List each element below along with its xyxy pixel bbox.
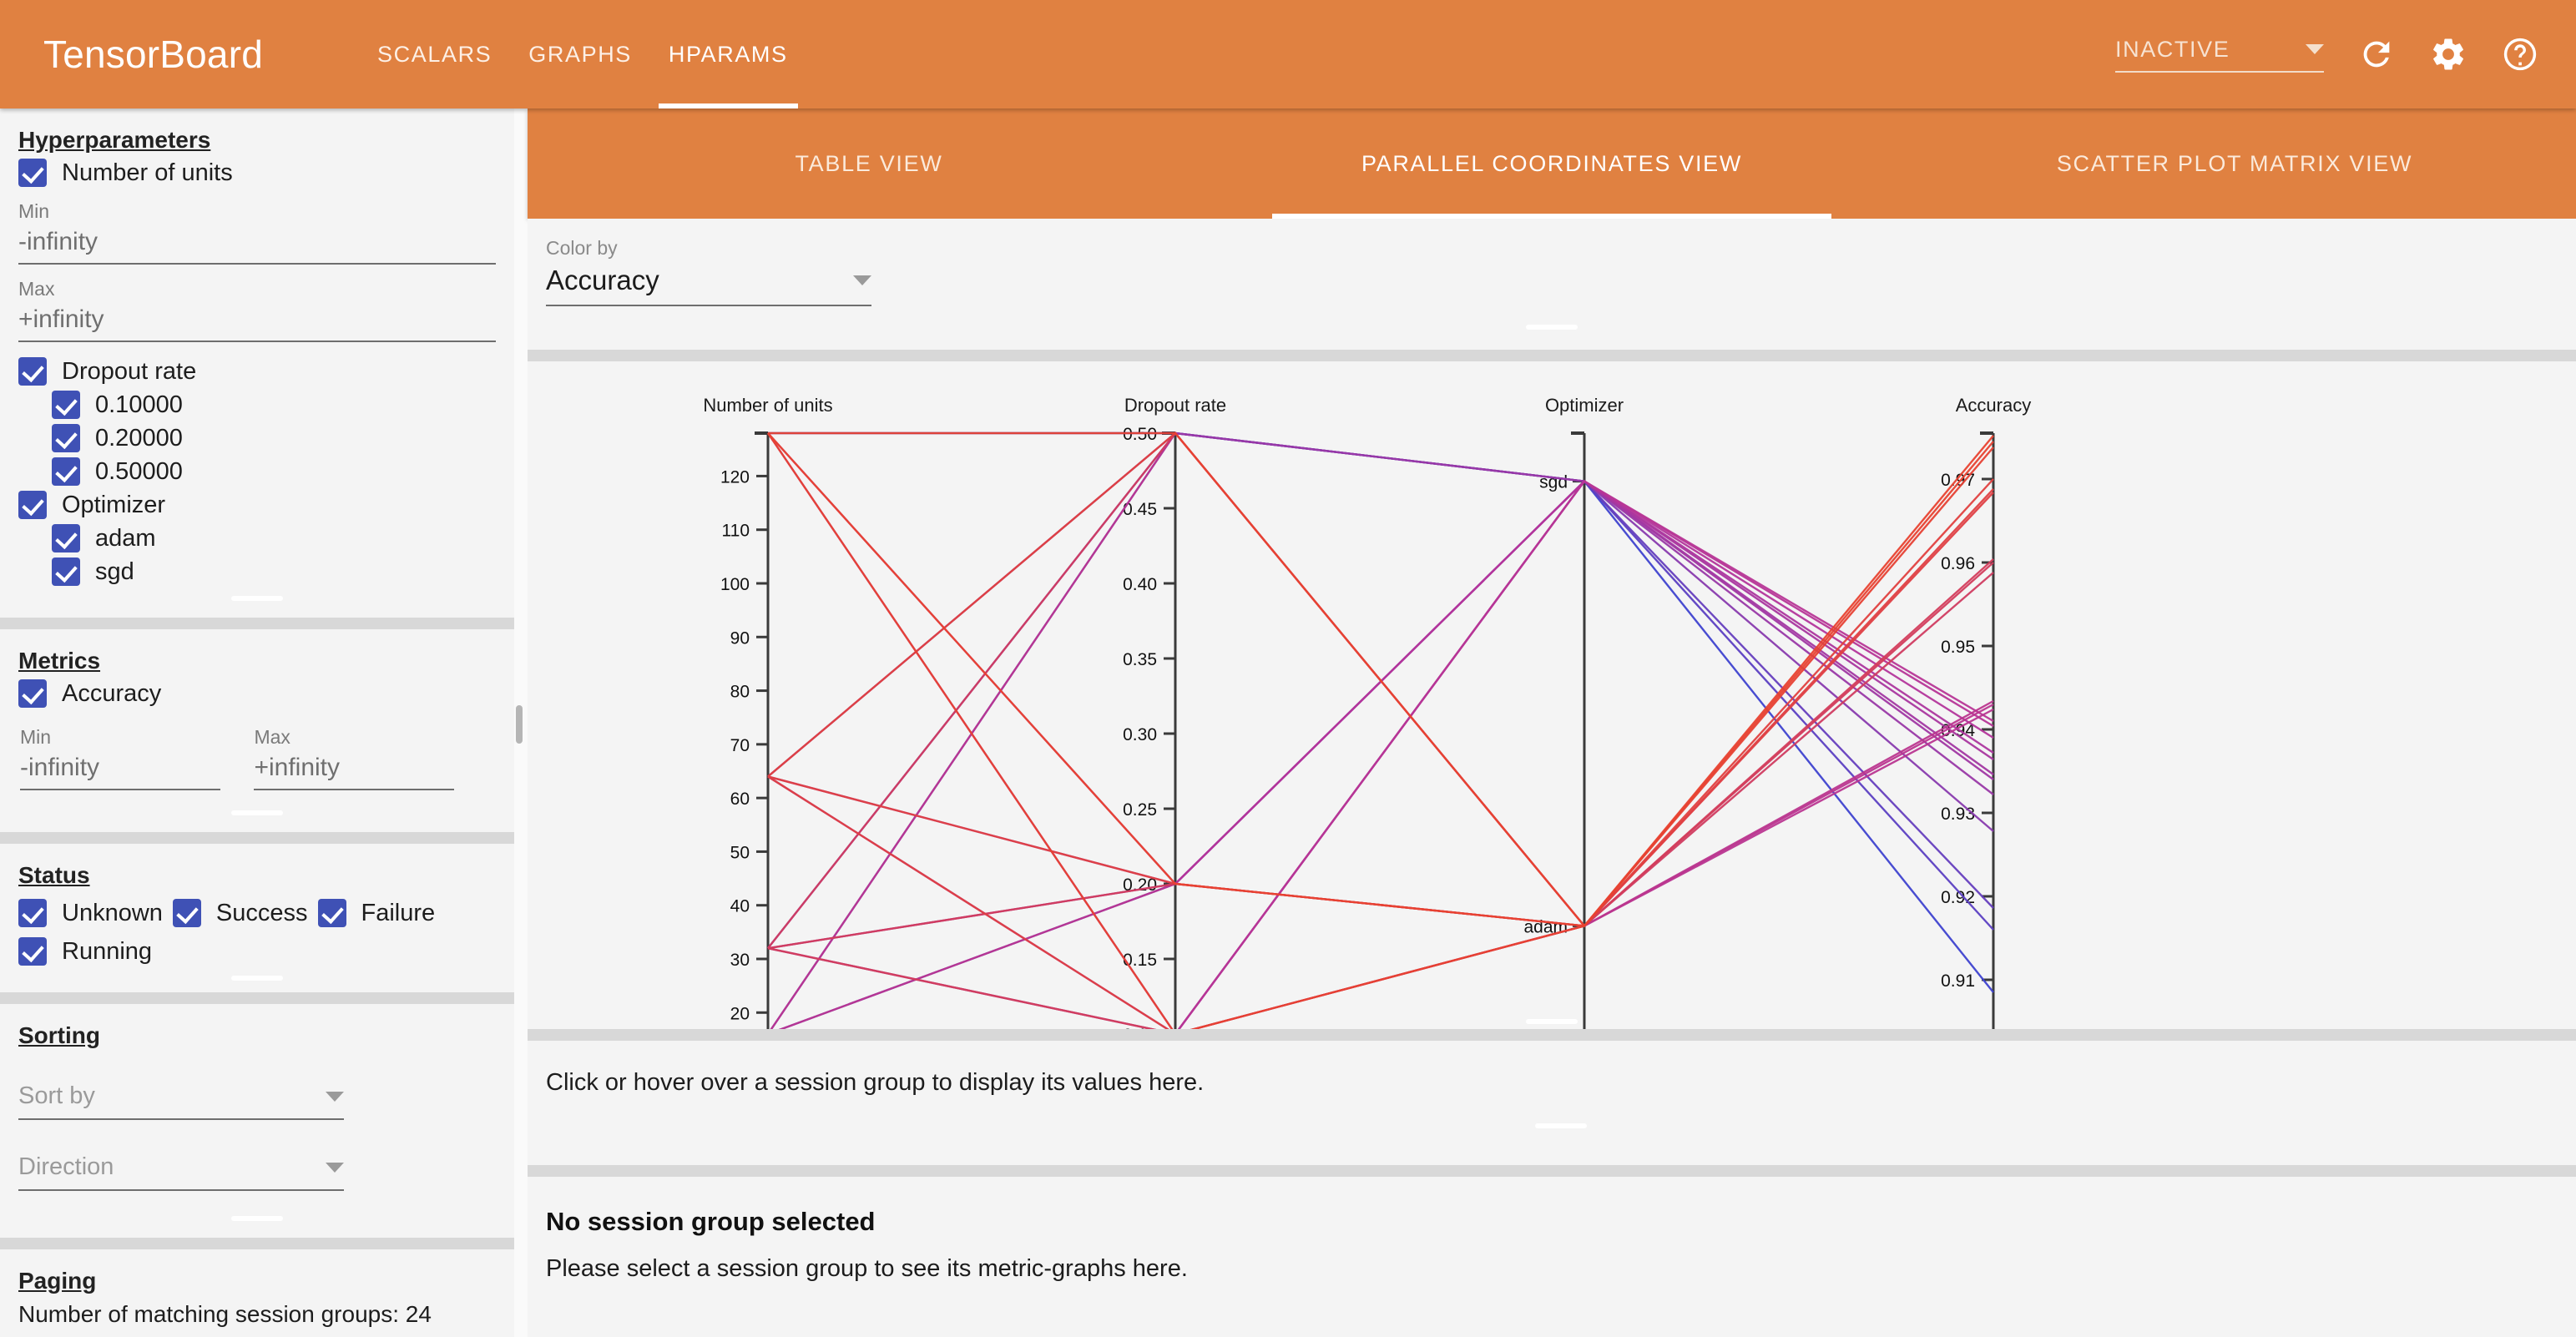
paging-card: Paging Number of matching session groups… xyxy=(0,1249,514,1337)
svg-text:0.95: 0.95 xyxy=(1941,638,1975,657)
svg-text:Number of units: Number of units xyxy=(703,395,832,416)
hparam-number-of-units-row[interactable]: Number of units xyxy=(18,159,514,187)
hyperparameters-resize-grip[interactable] xyxy=(0,591,514,604)
svg-text:50: 50 xyxy=(730,843,750,862)
hparam-label-number-of-units: Number of units xyxy=(62,159,233,187)
help-icon[interactable] xyxy=(2501,35,2539,73)
nav-tab-hparams[interactable]: HPARAMS xyxy=(650,0,806,108)
svg-text:110: 110 xyxy=(722,522,750,541)
svg-text:0.25: 0.25 xyxy=(1123,800,1157,820)
direction-select[interactable]: Direction xyxy=(18,1153,344,1191)
metric-graphs-card: No session group selected Please select … xyxy=(528,1177,2576,1337)
svg-text:0.15: 0.15 xyxy=(1123,951,1157,970)
dropout-value-label-0: 0.10000 xyxy=(95,391,183,419)
svg-text:0.50: 0.50 xyxy=(1123,425,1157,444)
accuracy-max-label: Max xyxy=(254,726,454,749)
status-title: Status xyxy=(18,862,514,889)
session-values-card: Click or hover over a session group to d… xyxy=(528,1041,2576,1165)
dropout-value-label-1: 0.20000 xyxy=(95,425,183,452)
checkbox-dropout-0-2[interactable] xyxy=(52,424,80,452)
svg-text:0.96: 0.96 xyxy=(1941,554,1975,573)
nav-tab-scalars[interactable]: SCALARS xyxy=(359,0,510,108)
tab-table-view[interactable]: TABLE VIEW xyxy=(528,108,1210,219)
units-max-value[interactable]: +infinity xyxy=(18,305,496,342)
units-min-label: Min xyxy=(18,200,496,223)
status-checkbox-row: Unknown Success Failure Running xyxy=(18,894,486,971)
gear-icon[interactable] xyxy=(2429,35,2467,73)
filters-sidebar: Hyperparameters Number of units Min -inf… xyxy=(0,108,514,1337)
svg-text:90: 90 xyxy=(730,628,750,648)
status-row-running[interactable]: Running xyxy=(18,937,152,966)
status-card: Status Unknown Success Failure Running xyxy=(0,844,514,992)
tensorboard-app: TensorBoard SCALARS GRAPHS HPARAMS INACT… xyxy=(0,0,2576,1337)
dropout-value-row-1[interactable]: 0.20000 xyxy=(52,424,514,452)
svg-text:0.91: 0.91 xyxy=(1941,971,1975,991)
checkbox-optimizer-sgd[interactable] xyxy=(52,558,80,586)
svg-text:60: 60 xyxy=(730,790,750,809)
status-row-failure[interactable]: Failure xyxy=(318,899,436,927)
svg-text:70: 70 xyxy=(730,736,750,755)
svg-text:Accuracy: Accuracy xyxy=(1956,395,2031,416)
metrics-resize-grip[interactable] xyxy=(0,805,514,819)
top-app-bar: TensorBoard SCALARS GRAPHS HPARAMS INACT… xyxy=(0,0,2576,108)
svg-text:40: 40 xyxy=(730,897,750,916)
svg-text:0.93: 0.93 xyxy=(1941,805,1975,824)
metric-accuracy-row[interactable]: Accuracy xyxy=(18,679,514,708)
accuracy-max-value[interactable]: +infinity xyxy=(254,754,454,790)
view-tabs: TABLE VIEW PARALLEL COORDINATES VIEW SCA… xyxy=(528,108,2576,219)
hparam-dropout-rate-row[interactable]: Dropout rate xyxy=(18,357,514,386)
svg-text:0.35: 0.35 xyxy=(1123,650,1157,669)
status-row-success[interactable]: Success xyxy=(173,899,308,927)
matching-session-groups-text: Number of matching session groups: 24 xyxy=(18,1301,514,1328)
session-values-hint: Click or hover over a session group to d… xyxy=(546,1069,2576,1097)
hyperparameters-title: Hyperparameters xyxy=(18,127,514,154)
nav-tab-graphs[interactable]: GRAPHS xyxy=(510,0,650,108)
tab-scatter-plot-matrix-view[interactable]: SCATTER PLOT MATRIX VIEW xyxy=(1893,108,2576,219)
checkbox-optimizer[interactable] xyxy=(18,491,47,519)
svg-text:100: 100 xyxy=(720,575,750,594)
svg-text:30: 30 xyxy=(730,951,750,970)
dropout-value-label-2: 0.50000 xyxy=(95,458,183,486)
color-by-value: Accuracy xyxy=(546,265,659,296)
chevron-down-icon xyxy=(326,1092,344,1102)
metrics-card: Metrics Accuracy Min -infinity Max +infi… xyxy=(0,629,514,832)
parallel-coordinates-chart-card[interactable]: Number of units2030405060708090100110120… xyxy=(528,361,2576,1029)
chevron-down-icon xyxy=(853,275,871,285)
parallel-coordinates-plot[interactable]: Number of units2030405060708090100110120… xyxy=(528,361,2576,1029)
tab-parallel-coordinates-view[interactable]: PARALLEL COORDINATES VIEW xyxy=(1210,108,1893,219)
dropout-value-row-0[interactable]: 0.10000 xyxy=(52,391,514,419)
color-by-card: Color by Accuracy xyxy=(528,219,2576,350)
svg-text:80: 80 xyxy=(730,683,750,702)
svg-text:120: 120 xyxy=(720,467,750,487)
checkbox-dropout-0-1[interactable] xyxy=(52,391,80,419)
optimizer-value-label-0: adam xyxy=(95,525,156,552)
sorting-card: Sorting Sort by Direction xyxy=(0,1004,514,1238)
metric-label-accuracy: Accuracy xyxy=(62,680,161,708)
sorting-resize-grip[interactable] xyxy=(0,1211,514,1224)
hparam-label-dropout-rate: Dropout rate xyxy=(62,358,196,386)
sorting-title: Sorting xyxy=(18,1022,514,1049)
direction-placeholder: Direction xyxy=(18,1153,114,1181)
checkbox-dropout-0-5[interactable] xyxy=(52,457,80,486)
status-label-running: Running xyxy=(62,938,152,966)
svg-text:0.40: 0.40 xyxy=(1123,575,1157,594)
dropout-value-row-2[interactable]: 0.50000 xyxy=(52,457,514,486)
status-label-success: Success xyxy=(216,900,308,927)
refresh-icon[interactable] xyxy=(2357,35,2396,73)
chevron-down-icon xyxy=(2306,44,2324,54)
status-row-unknown[interactable]: Unknown xyxy=(18,899,163,927)
metric-graphs-subtext: Please select a session group to see its… xyxy=(546,1255,2576,1283)
paging-title: Paging xyxy=(18,1268,514,1294)
accuracy-min-value[interactable]: -infinity xyxy=(20,754,220,790)
hparam-optimizer-row[interactable]: Optimizer xyxy=(18,491,514,519)
chart-resize-grip[interactable] xyxy=(528,1014,2576,1027)
app-title: TensorBoard xyxy=(43,32,263,77)
checkbox-status-running[interactable] xyxy=(18,937,47,966)
svg-text:0.30: 0.30 xyxy=(1123,725,1157,744)
units-max-label: Max xyxy=(18,278,496,300)
top-bar-right: INACTIVE xyxy=(2115,35,2539,73)
color-by-resize-grip[interactable] xyxy=(528,320,2576,333)
color-by-label: Color by xyxy=(546,237,871,260)
accuracy-max-field[interactable]: Max +infinity xyxy=(254,726,454,790)
checkbox-metric-accuracy[interactable] xyxy=(18,679,47,708)
metrics-title: Metrics xyxy=(18,648,514,674)
status-label-unknown: Unknown xyxy=(62,900,163,927)
checkbox-status-unknown[interactable] xyxy=(18,899,47,927)
accuracy-min-field[interactable]: Min -infinity xyxy=(20,726,220,790)
checkbox-dropout-rate[interactable] xyxy=(18,357,47,386)
sort-by-select[interactable]: Sort by xyxy=(18,1082,344,1120)
units-min-field[interactable]: Min -infinity xyxy=(18,200,496,265)
main-content: TABLE VIEW PARALLEL COORDINATES VIEW SCA… xyxy=(528,108,2576,1337)
checkbox-status-success[interactable] xyxy=(173,899,201,927)
main-nav-tabs: SCALARS GRAPHS HPARAMS xyxy=(359,0,806,108)
units-min-value[interactable]: -infinity xyxy=(18,228,496,265)
accuracy-min-label: Min xyxy=(20,726,220,749)
svg-text:Dropout rate: Dropout rate xyxy=(1124,395,1226,416)
color-by-select[interactable]: Color by Accuracy xyxy=(546,237,871,306)
units-max-field[interactable]: Max +infinity xyxy=(18,278,496,342)
optimizer-value-row-0[interactable]: adam xyxy=(52,524,514,552)
checkbox-status-failure[interactable] xyxy=(318,899,346,927)
sort-by-placeholder: Sort by xyxy=(18,1082,95,1110)
run-status-value: INACTIVE xyxy=(2115,37,2230,63)
checkbox-number-of-units[interactable] xyxy=(18,159,47,187)
status-label-failure: Failure xyxy=(361,900,436,927)
sidebar-resize-handle[interactable] xyxy=(516,705,523,744)
metric-graphs-heading: No session group selected xyxy=(546,1207,2576,1237)
hyperparameters-card: Hyperparameters Number of units Min -inf… xyxy=(0,108,514,618)
chevron-down-icon xyxy=(326,1163,344,1173)
status-resize-grip[interactable] xyxy=(0,971,514,984)
svg-text:Optimizer: Optimizer xyxy=(1545,395,1624,416)
optimizer-value-row-1[interactable]: sgd xyxy=(52,558,514,586)
run-status-selector[interactable]: INACTIVE xyxy=(2115,37,2324,73)
hparam-label-optimizer: Optimizer xyxy=(62,492,165,519)
checkbox-optimizer-adam[interactable] xyxy=(52,524,80,552)
session-values-resize-grip[interactable] xyxy=(546,1118,2576,1132)
optimizer-value-label-1: sgd xyxy=(95,558,134,586)
